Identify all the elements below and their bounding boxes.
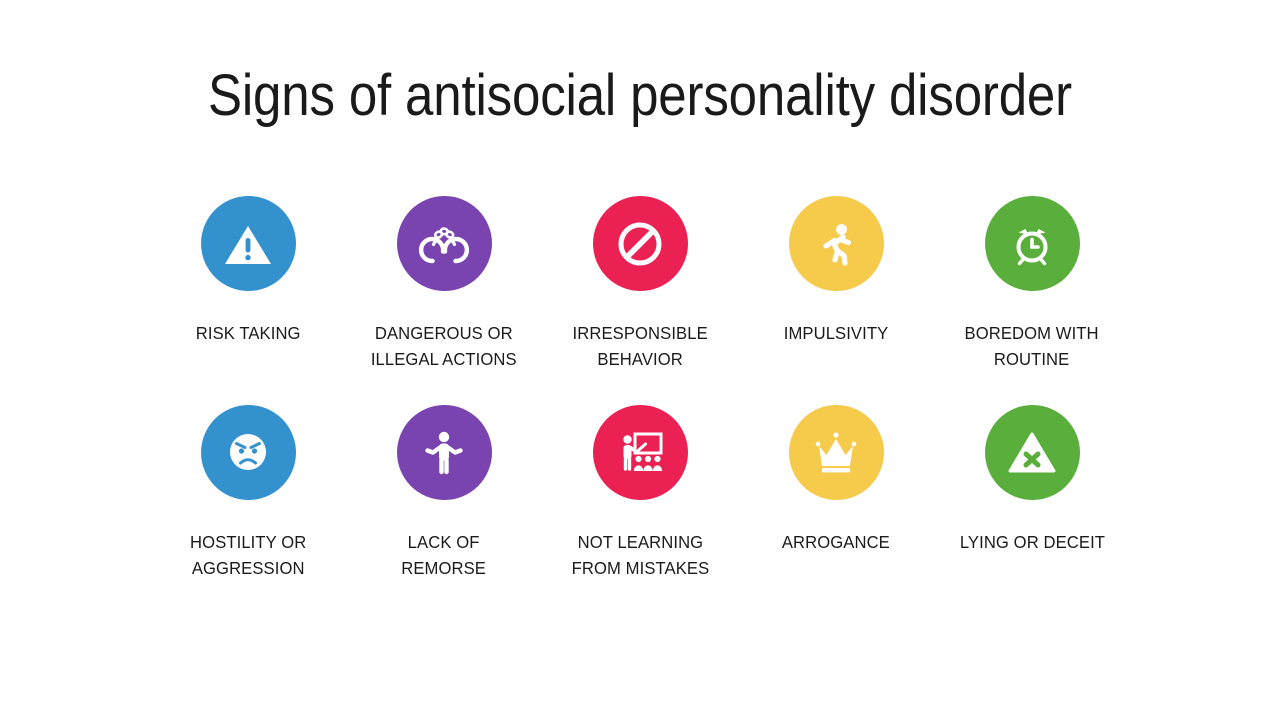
sign-label: IRRESPONSIBLE BEHAVIOR (572, 320, 707, 373)
sign-label: NOT LEARNING FROM MISTAKES (571, 529, 709, 582)
sign-item-risk-taking[interactable]: RISK TAKING (150, 196, 346, 346)
icon-badge (789, 405, 884, 500)
sign-item-irresponsible-behavior[interactable]: IRRESPONSIBLE BEHAVIOR (542, 196, 738, 373)
infographic-slide: Signs of antisocial personality disorder… (0, 0, 1280, 721)
sign-label: LYING OR DECEIT (959, 529, 1104, 555)
teacher-classroom-icon (613, 426, 667, 478)
sign-item-impulsivity[interactable]: IMPULSIVITY (738, 196, 934, 346)
icon-badge (397, 196, 492, 291)
sign-item-lying-or-deceit[interactable]: LYING OR DECEIT (934, 405, 1130, 555)
triangle-x-icon (1006, 427, 1058, 477)
signs-row: HOSTILITY OR AGGRESSION (150, 405, 1130, 582)
sign-label: IMPULSIVITY (784, 320, 889, 346)
crown-icon (809, 428, 863, 476)
icon-badge (201, 196, 296, 291)
icon-badge (985, 405, 1080, 500)
sign-label: LACK OF REMORSE (402, 529, 487, 582)
icon-badge (593, 196, 688, 291)
prohibited-sign-icon (614, 218, 666, 270)
sign-label: RISK TAKING (196, 320, 301, 346)
sign-item-dangerous-or-illegal-actions[interactable]: DANGEROUS OR ILLEGAL ACTIONS (346, 196, 542, 373)
sign-item-hostility-or-aggression[interactable]: HOSTILITY OR AGGRESSION (150, 405, 346, 582)
icon-badge (201, 405, 296, 500)
sign-label: ARROGANCE (782, 529, 890, 555)
warning-triangle-icon (222, 218, 274, 270)
handcuffs-icon (417, 219, 471, 269)
sign-item-boredom-with-routine[interactable]: BOREDOM WITH ROUTINE (934, 196, 1130, 373)
icon-badge (985, 196, 1080, 291)
sign-item-not-learning-from-mistakes[interactable]: NOT LEARNING FROM MISTAKES (542, 405, 738, 582)
icon-badge (397, 405, 492, 500)
signs-grid: RISK TAKING (150, 196, 1130, 581)
shrugging-person-icon (418, 426, 470, 478)
page-title: Signs of antisocial personality disorder (77, 66, 1203, 127)
sign-label: DANGEROUS OR ILLEGAL ACTIONS (371, 320, 517, 373)
sign-label: HOSTILITY OR AGGRESSION (190, 529, 306, 582)
icon-badge (789, 196, 884, 291)
sign-item-lack-of-remorse[interactable]: LACK OF REMORSE (346, 405, 542, 582)
angry-face-icon (222, 426, 274, 478)
running-person-icon (810, 218, 862, 270)
signs-row: RISK TAKING (150, 196, 1130, 373)
sign-item-arrogance[interactable]: ARROGANCE (738, 405, 934, 555)
sign-label: BOREDOM WITH ROUTINE (965, 320, 1099, 373)
alarm-clock-icon (1006, 218, 1058, 270)
icon-badge (593, 405, 688, 500)
